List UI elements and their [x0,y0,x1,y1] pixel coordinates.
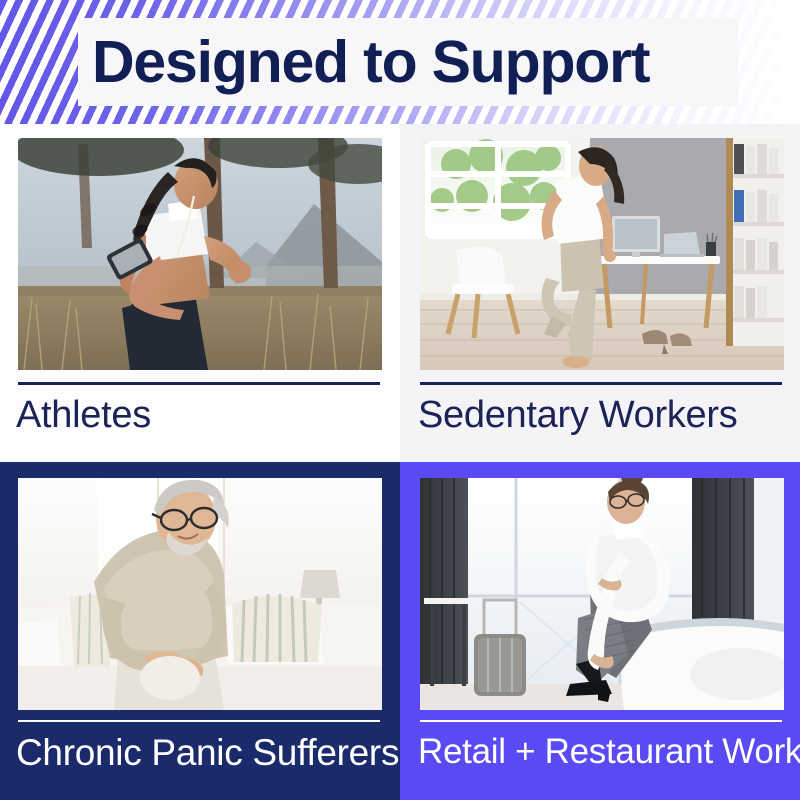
category-caption-retail-restaurant-workers: Retail + Restaurant Workers [418,734,800,769]
caption-rule [420,382,782,385]
category-grid: Athletes [0,124,800,800]
hotel-room-boot-photo [420,478,784,710]
caption-rule [420,720,782,722]
category-card-athletes[interactable]: Athletes [0,124,400,462]
category-caption-chronic-panic-sufferers: Chronic Panic Sufferers [16,734,399,771]
category-caption-athletes: Athletes [16,396,151,434]
office-stretch-photo [420,138,784,370]
category-card-sedentary-workers[interactable]: Sedentary Workers [400,124,800,462]
knee-pain-sofa-photo [18,478,382,710]
runner-outdoors-photo [18,138,382,370]
caption-rule [18,720,380,722]
header-banner: Designed to Support [0,0,800,124]
page-title: Designed to Support [92,18,792,106]
category-caption-sedentary-workers: Sedentary Workers [418,396,737,434]
category-card-retail-restaurant-workers[interactable]: Retail + Restaurant Workers [400,462,800,800]
poster: Designed to Support [0,0,800,800]
caption-rule [18,382,380,385]
category-card-chronic-panic-sufferers[interactable]: Chronic Panic Sufferers [0,462,400,800]
